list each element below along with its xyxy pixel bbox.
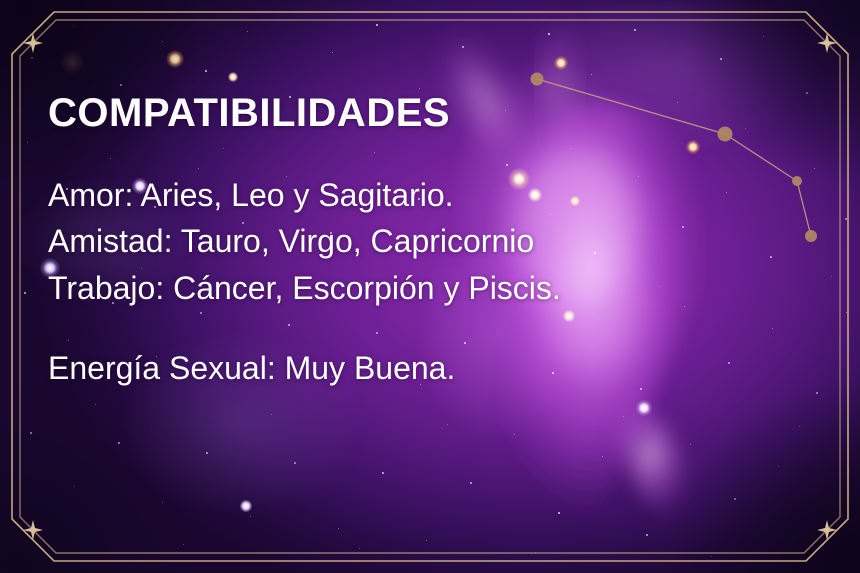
compatibility-line-amistad: Amistad: Tauro, Virgo, Capricornio <box>48 218 748 264</box>
compatibility-line-amor: Amor: Aries, Leo y Sagitario. <box>48 172 748 218</box>
page-title: COMPATIBILIDADES <box>48 92 748 134</box>
sexual-energy-line: Energía Sexual: Muy Buena. <box>48 345 748 391</box>
compatibility-line-trabajo: Trabajo: Cáncer, Escorpión y Piscis. <box>48 265 748 311</box>
text-spacer <box>48 311 748 345</box>
horoscope-compatibility-card: COMPATIBILIDADES Amor: Aries, Leo y Sagi… <box>0 0 860 573</box>
text-content: COMPATIBILIDADES Amor: Aries, Leo y Sagi… <box>48 92 748 392</box>
compatibility-list: Amor: Aries, Leo y Sagitario. Amistad: T… <box>48 172 748 392</box>
